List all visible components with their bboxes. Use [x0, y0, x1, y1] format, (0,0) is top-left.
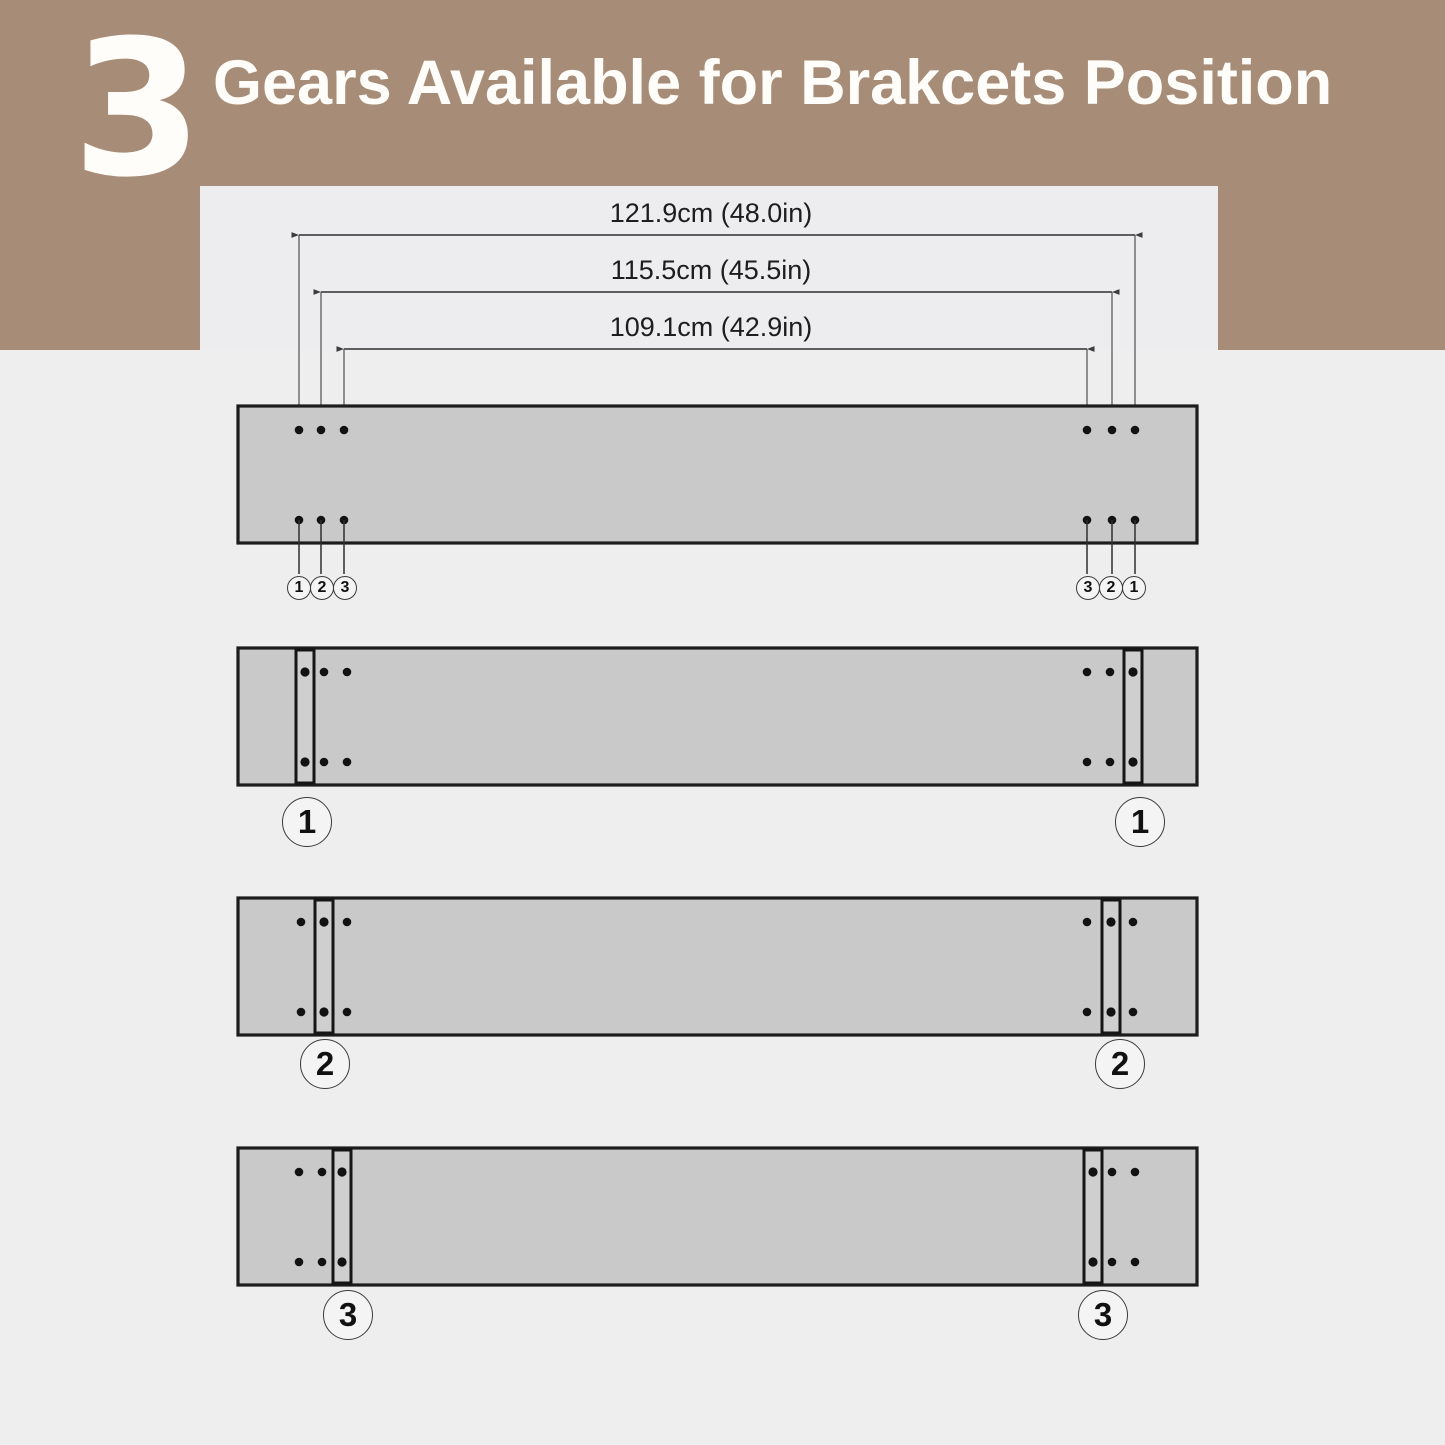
bracket-left-gear-3	[333, 1150, 351, 1283]
gear-badge-right-2: 2	[1095, 1039, 1145, 1089]
gear-board-2	[238, 898, 1197, 1035]
hole-marker-right-3: 3	[1076, 576, 1100, 600]
hole-marker-left-1: 1	[287, 576, 311, 600]
hole-marker-left-2: 2	[310, 576, 334, 600]
hole-marker-right-2: 2	[1099, 576, 1123, 600]
bracket-right-gear-1	[1124, 650, 1142, 783]
gear-badge-left-2: 2	[300, 1039, 350, 1089]
hole-marker-right-1: 1	[1122, 576, 1146, 600]
gear-badge-left-1: 1	[282, 797, 332, 847]
technical-drawing	[0, 0, 1445, 1445]
hole-marker-left-3: 3	[333, 576, 357, 600]
diagram-stage: 3 Gears Available for Brakcets Position …	[0, 0, 1445, 1445]
gear-badge-right-3: 3	[1078, 1290, 1128, 1340]
gear-badge-left-3: 3	[323, 1290, 373, 1340]
bracket-left-gear-2	[315, 900, 333, 1033]
gear-board-1	[238, 648, 1197, 785]
gear-badge-right-1: 1	[1115, 797, 1165, 847]
gear-board-3	[238, 1148, 1197, 1285]
reference-board	[238, 406, 1197, 574]
bracket-right-gear-3	[1084, 1150, 1102, 1283]
extension-lines	[299, 235, 1135, 430]
bracket-left-gear-1	[296, 650, 314, 783]
bracket-right-gear-2	[1102, 900, 1120, 1033]
